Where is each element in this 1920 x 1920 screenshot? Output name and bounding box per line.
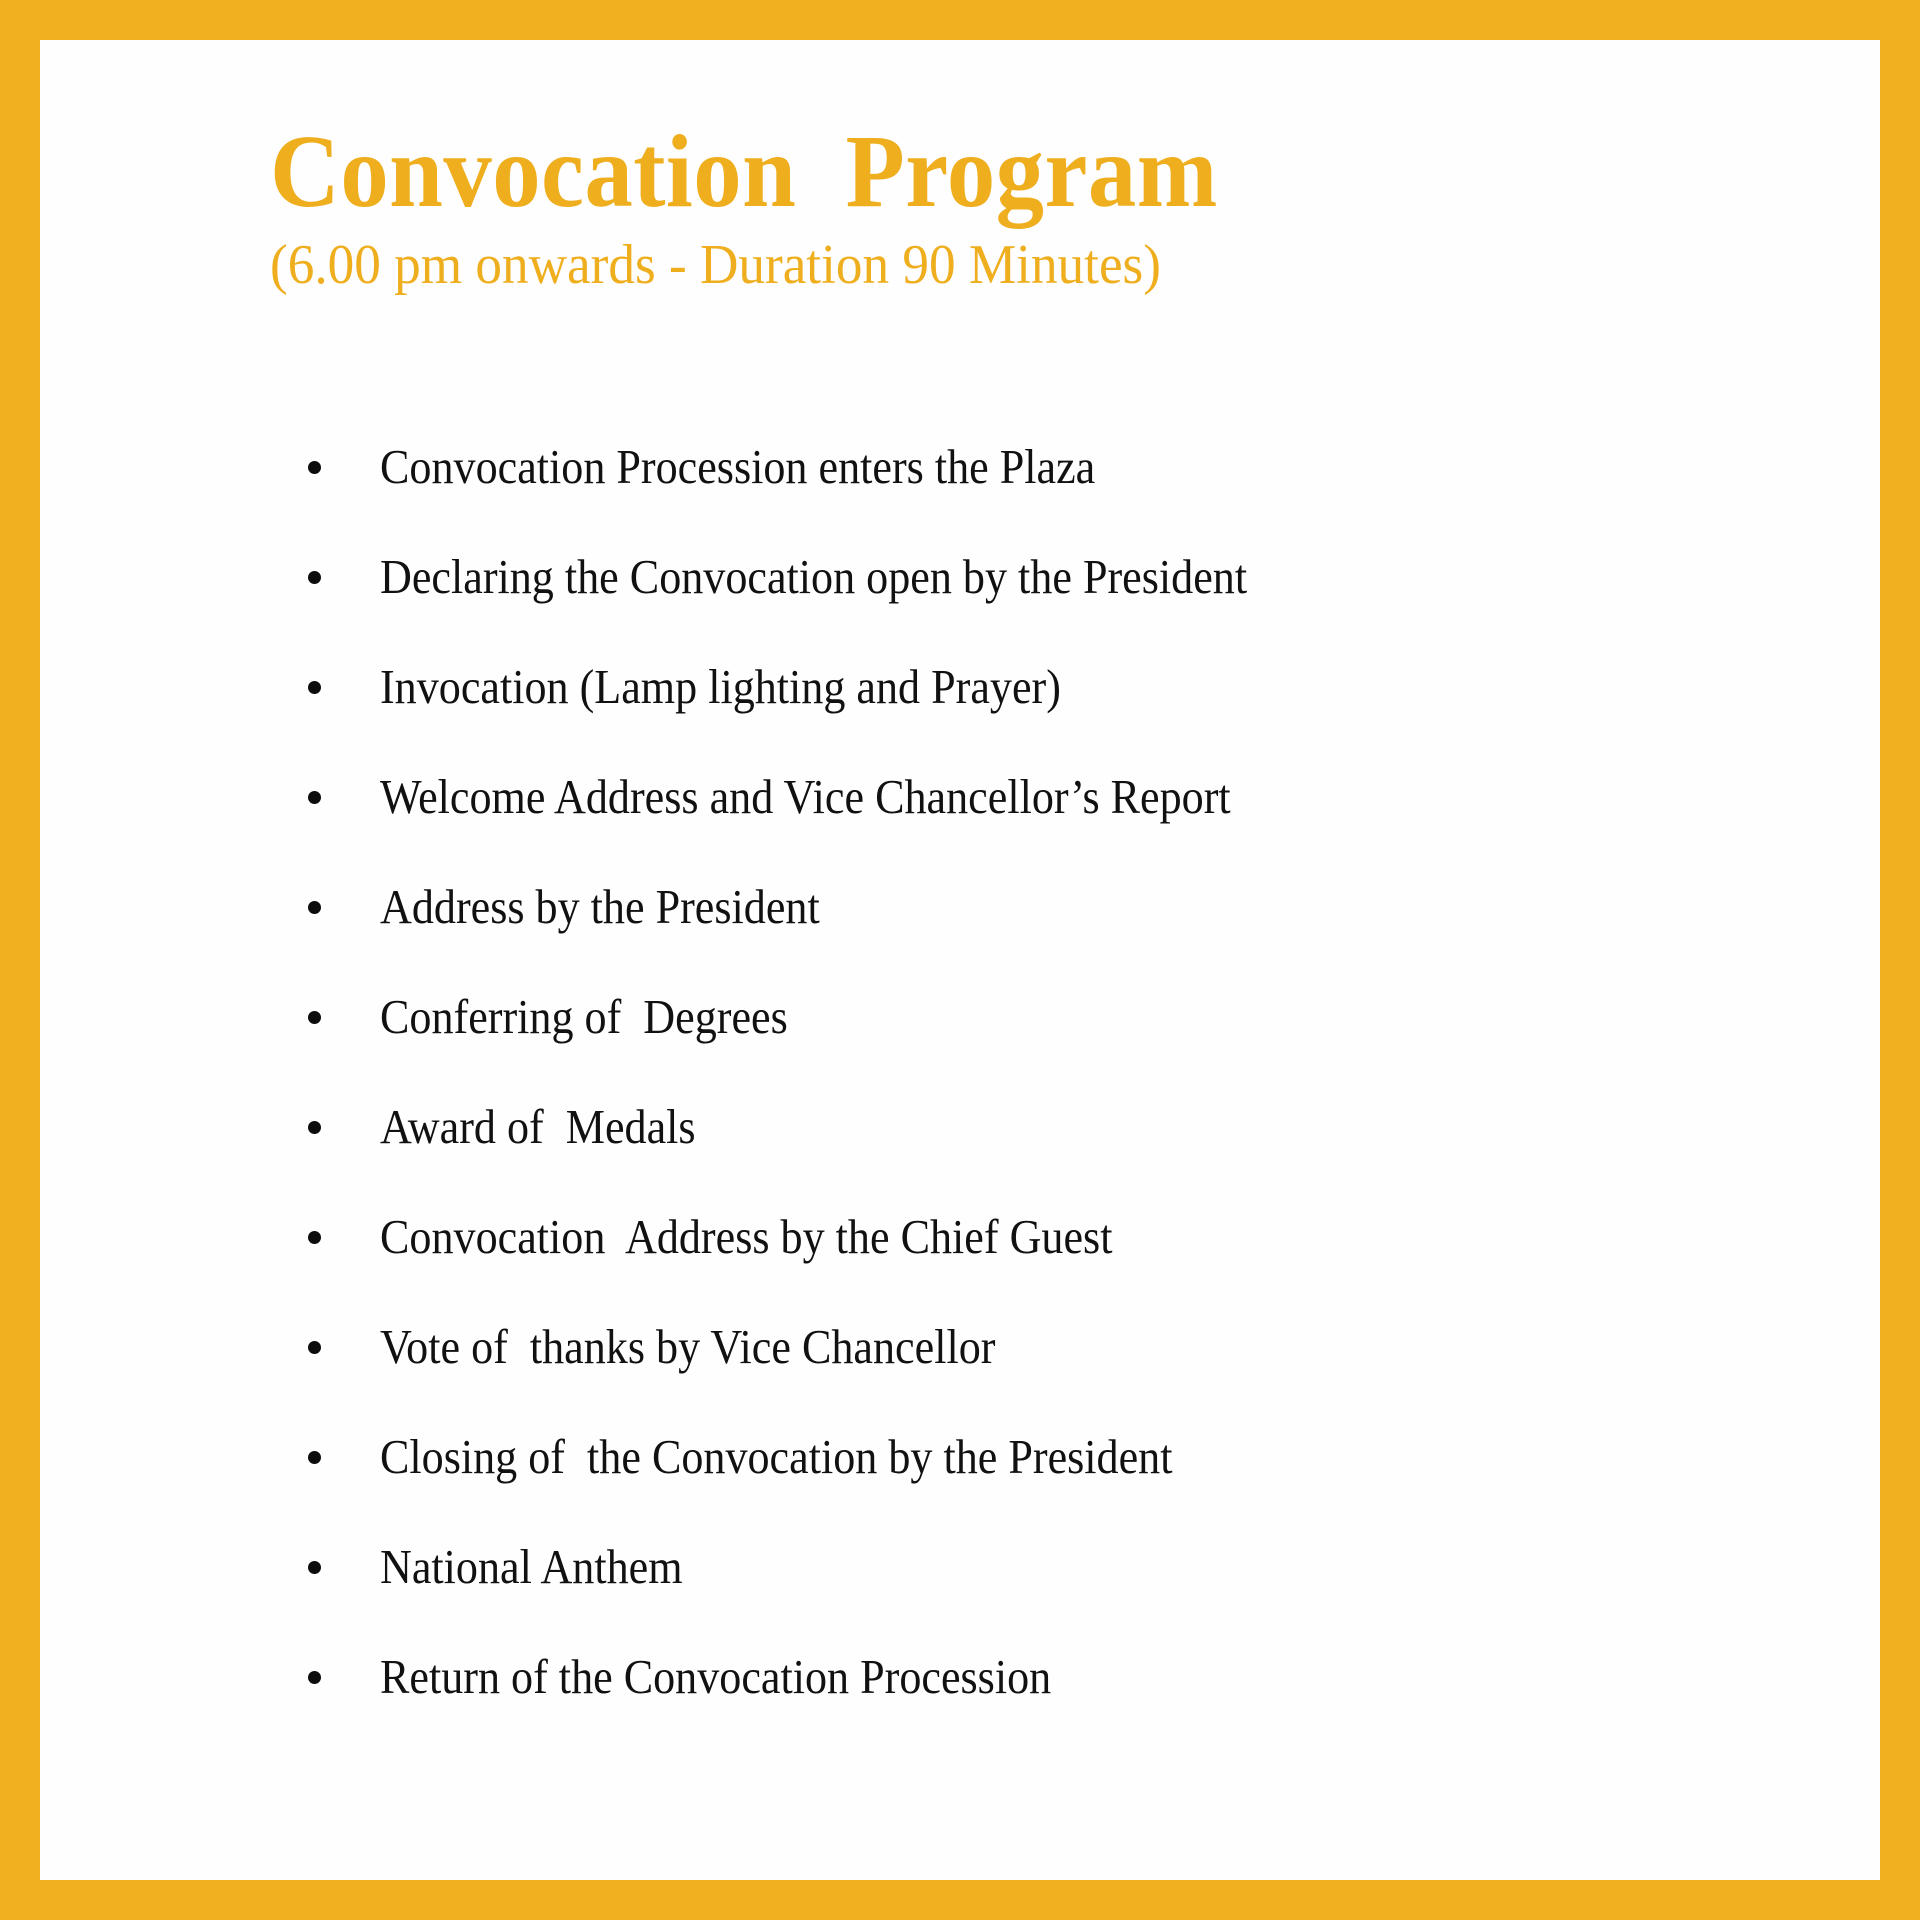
list-item-label: Declaring the Convocation open by the Pr… bbox=[380, 550, 1247, 604]
list-item-label: Closing of the Convocation by the Presid… bbox=[380, 1430, 1172, 1484]
list-item: Convocation Address by the Chief Guest bbox=[270, 1182, 1750, 1292]
page-subtitle: (6.00 pm onwards - Duration 90 Minutes) bbox=[270, 236, 1600, 295]
bullet-icon bbox=[308, 791, 321, 804]
list-item: Vote of thanks by Vice Chancellor bbox=[270, 1292, 1750, 1402]
bullet-icon bbox=[308, 1231, 321, 1244]
list-item-label: Convocation Address by the Chief Guest bbox=[380, 1210, 1112, 1264]
bullet-icon bbox=[308, 1121, 321, 1134]
poster-canvas: Convocation Program (6.00 pm onwards - D… bbox=[40, 40, 1880, 1880]
list-item-label: Conferring of Degrees bbox=[380, 990, 788, 1044]
list-item-label: Welcome Address and Vice Chancellor’s Re… bbox=[380, 770, 1231, 824]
list-item-label: Convocation Procession enters the Plaza bbox=[380, 440, 1095, 494]
list-item: Award of Medals bbox=[270, 1072, 1750, 1182]
list-item: Welcome Address and Vice Chancellor’s Re… bbox=[270, 742, 1750, 852]
list-item: National Anthem bbox=[270, 1512, 1750, 1622]
page-title: Convocation Program bbox=[270, 120, 1572, 224]
list-item: Return of the Convocation Procession bbox=[270, 1622, 1750, 1732]
bullet-icon bbox=[308, 1011, 321, 1024]
bullet-icon bbox=[308, 1341, 321, 1354]
list-item-label: National Anthem bbox=[380, 1540, 683, 1594]
bullet-icon bbox=[308, 571, 321, 584]
list-item-label: Vote of thanks by Vice Chancellor bbox=[380, 1320, 995, 1374]
header: Convocation Program (6.00 pm onwards - D… bbox=[270, 120, 1670, 295]
bullet-icon bbox=[308, 461, 321, 474]
list-item: Conferring of Degrees bbox=[270, 962, 1750, 1072]
bullet-icon bbox=[308, 681, 321, 694]
list-item-label: Address by the President bbox=[380, 880, 820, 934]
bullet-icon bbox=[308, 1451, 321, 1464]
list-item-label: Return of the Convocation Procession bbox=[380, 1650, 1051, 1704]
list-item: Invocation (Lamp lighting and Prayer) bbox=[270, 632, 1750, 742]
list-item: Convocation Procession enters the Plaza bbox=[270, 412, 1750, 522]
bullet-icon bbox=[308, 1671, 321, 1684]
list-item-label: Invocation (Lamp lighting and Prayer) bbox=[380, 660, 1061, 714]
program-list: Convocation Procession enters the PlazaD… bbox=[270, 412, 1750, 1732]
list-item: Address by the President bbox=[270, 852, 1750, 962]
list-item: Declaring the Convocation open by the Pr… bbox=[270, 522, 1750, 632]
poster-frame: Convocation Program (6.00 pm onwards - D… bbox=[0, 0, 1920, 1920]
bullet-icon bbox=[308, 1561, 321, 1574]
bullet-icon bbox=[308, 901, 321, 914]
list-item: Closing of the Convocation by the Presid… bbox=[270, 1402, 1750, 1512]
list-item-label: Award of Medals bbox=[380, 1100, 696, 1154]
